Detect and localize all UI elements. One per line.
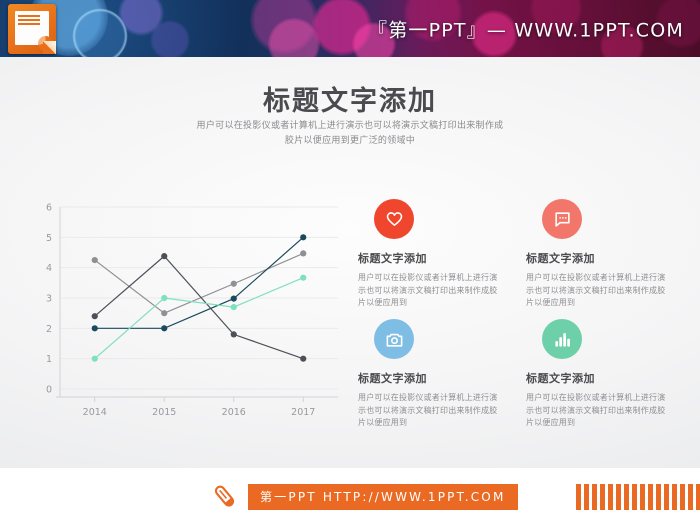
footer-bar: 第一PPT HTTP://WWW.1PPT.COM [0,468,700,525]
footer-stripe-decoration [576,484,700,510]
chart-data-point [161,325,167,331]
x-axis-tick-label: 2015 [152,407,176,418]
chart-data-point [92,257,98,263]
footer-url-label: 第一PPT HTTP://WWW.1PPT.COM [248,484,518,510]
feature-description: 用户可以在投影仪或者计算机上进行演示也可以将演示文稿打印出来制作成胶片以便应用到 [358,392,503,430]
camera-icon[interactable] [374,319,414,359]
y-axis-tick-label: 6 [46,203,52,214]
bokeh-decoration [150,20,190,57]
chart-axes [56,207,338,402]
chart-data-point [161,310,167,316]
chart-series-line [95,256,304,359]
heart-glyph [385,210,404,229]
camera-glyph [385,330,404,349]
chart-y-axis-labels: 0123456 [46,203,52,396]
page-subtitle: 用户可以在投影仪或者计算机上进行演示也可以将演示文稿打印出来制作成 胶片以便应用… [0,119,700,149]
slide-canvas: 标题文字添加 用户可以在投影仪或者计算机上进行演示也可以将演示文稿打印出来制作成… [0,57,700,468]
feature-title: 标题文字添加 [358,250,508,266]
feature-grid: 标题文字添加 用户可以在投影仪或者计算机上进行演示也可以将演示文稿打印出来制作成… [358,199,676,429]
top-banner: 『第一PPT』— WWW.1PPT.COM [0,0,700,57]
feature-card-3[interactable]: 标题文字添加 用户可以在投影仪或者计算机上进行演示也可以将演示文稿打印出来制作成… [358,319,508,430]
page-title: 标题文字添加 [0,79,700,118]
speech-bubble-glyph [553,210,572,229]
chart-data-point [231,331,237,337]
y-axis-tick-label: 2 [46,324,52,335]
x-axis-tick-label: 2016 [222,407,246,418]
feature-title: 标题文字添加 [526,250,676,266]
feature-card-2[interactable]: 标题文字添加 用户可以在投影仪或者计算机上进行演示也可以将演示文稿打印出来制作成… [526,199,676,310]
y-axis-tick-label: 4 [46,263,52,274]
y-axis-tick-label: 3 [46,294,52,305]
subtitle-line-2: 胶片以便应用到更广泛的领域中 [0,134,700,149]
feature-description: 用户可以在投影仪或者计算机上进行演示也可以将演示文稿打印出来制作成胶片以便应用到 [526,392,671,430]
chart-data-point [300,356,306,362]
line-chart: 0123456 2014201520162017 [26,197,346,427]
x-axis-tick-label: 2017 [291,407,315,418]
chart-data-point [300,275,306,281]
y-axis-tick-label: 5 [46,233,52,244]
footer-inner: 第一PPT HTTP://WWW.1PPT.COM [0,484,700,510]
pen-icon [210,482,240,512]
logo-corner-fold [43,41,56,54]
feature-card-1[interactable]: 标题文字添加 用户可以在投影仪或者计算机上进行演示也可以将演示文稿打印出来制作成… [358,199,508,310]
x-axis-tick-label: 2014 [83,407,107,418]
powerpoint-file-icon [8,4,56,54]
chart-data-point [92,356,98,362]
heart-icon[interactable] [374,199,414,239]
chart-data-point [231,281,237,287]
chart-x-axis-labels: 2014201520162017 [83,407,316,418]
line-chart-svg: 0123456 2014201520162017 [26,197,346,427]
bar-chart-glyph [553,330,572,349]
y-axis-tick-label: 0 [46,385,52,396]
feature-title: 标题文字添加 [358,370,508,386]
chart-data-point [231,304,237,310]
banner-brand-text: 『第一PPT』— WWW.1PPT.COM [368,15,684,42]
subtitle-line-1: 用户可以在投影仪或者计算机上进行演示也可以将演示文稿打印出来制作成 [0,119,700,134]
chart-data-point [300,234,306,240]
y-axis-tick-label: 1 [46,354,52,365]
chart-data-point [231,296,237,302]
chart-data-point [300,250,306,256]
feature-card-4[interactable]: 标题文字添加 用户可以在投影仪或者计算机上进行演示也可以将演示文稿打印出来制作成… [526,319,676,430]
chart-series-line [95,253,304,313]
bar-chart-icon[interactable] [542,319,582,359]
speech-bubble-icon[interactable] [542,199,582,239]
feature-title: 标题文字添加 [526,370,676,386]
chart-series-line [95,237,304,328]
chart-data-point [161,253,167,259]
chart-data-point [161,295,167,301]
chart-data-point [92,325,98,331]
chart-data-point [92,313,98,319]
feature-description: 用户可以在投影仪或者计算机上进行演示也可以将演示文稿打印出来制作成胶片以便应用到 [358,272,503,310]
feature-description: 用户可以在投影仪或者计算机上进行演示也可以将演示文稿打印出来制作成胶片以便应用到 [526,272,671,310]
